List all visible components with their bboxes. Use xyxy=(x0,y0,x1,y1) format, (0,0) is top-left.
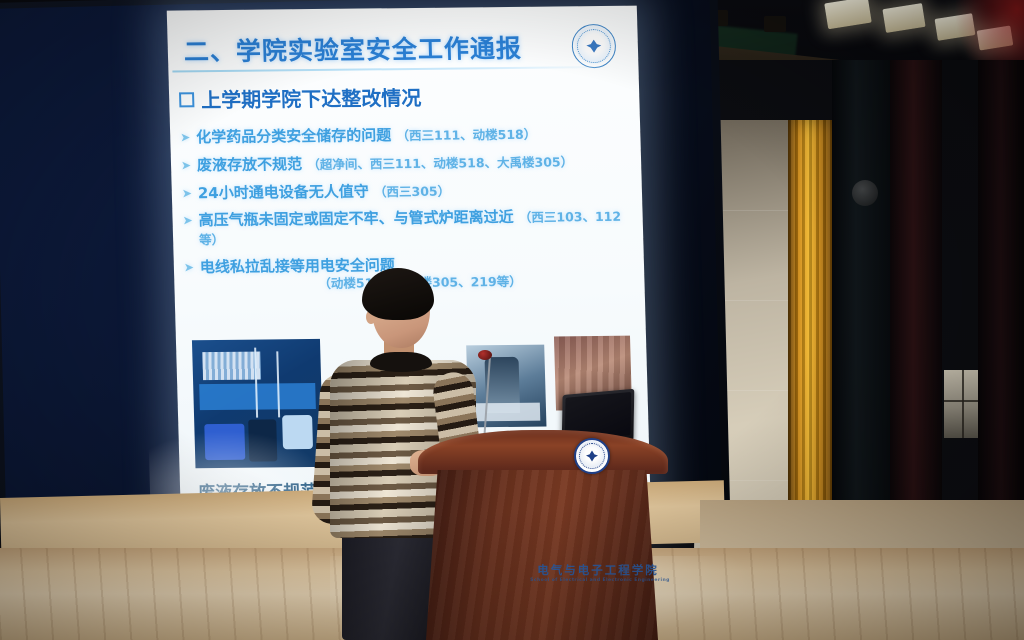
bullet-text: 24小时通电设备无人值守 xyxy=(198,182,369,202)
arrow-bullet-icon: ➤ xyxy=(184,260,194,275)
arrow-bullet-icon: ➤ xyxy=(182,214,192,229)
list-item: ➤ 废液存放不规范 （超净间、西三111、动楼518、大禹楼305） xyxy=(197,151,628,174)
bullet-note: （超净间、西三111、动楼518、大禹楼305） xyxy=(307,154,573,172)
slide-title: 二、学院实验室安全工作通报 xyxy=(183,28,614,68)
bullet-text: 废液存放不规范 xyxy=(197,155,303,174)
arrow-bullet-icon: ➤ xyxy=(180,130,190,145)
arrow-bullet-icon: ➤ xyxy=(182,186,192,201)
dark-curtain xyxy=(832,60,892,560)
auditorium-scene: 二、学院实验室安全工作通报 上学期学院下达整改情况 ➤ 化学药品分类安全储存的问… xyxy=(0,0,1024,640)
presenter-hair xyxy=(362,268,434,320)
ceiling-speaker xyxy=(852,180,878,206)
podium-org-name-cn: 电气与电子工程学院 xyxy=(528,562,668,578)
bullet-note: （西三111、动楼518） xyxy=(396,127,536,143)
square-bullet-icon xyxy=(179,92,194,107)
bullet-text: 高压气瓶未固定或固定不牢、与管式炉距离过近 xyxy=(198,208,514,229)
slide-subtitle-text: 上学期学院下达整改情况 xyxy=(201,86,422,112)
arrow-bullet-icon: ➤ xyxy=(181,158,191,173)
light-fixture xyxy=(764,16,786,32)
list-item: ➤ 24小时通电设备无人值守 （西三305） xyxy=(198,179,629,202)
university-emblem-icon xyxy=(574,438,610,474)
slide-subtitle: 上学期学院下达整改情况 xyxy=(179,80,620,114)
bullet-note: （西三305） xyxy=(374,183,451,199)
podium-top xyxy=(418,430,668,474)
podium-org-name-en: School of Electrical and Electronic Engi… xyxy=(526,578,674,583)
list-item: ➤ 化学药品分类安全储存的问题 （西三111、动楼518） xyxy=(196,124,627,147)
list-item: ➤ 高压气瓶未固定或固定不牢、与管式炉距离过近 （西三103、112等） xyxy=(198,207,629,249)
dark-curtain xyxy=(978,60,1024,560)
presenter-collar xyxy=(370,352,432,372)
dark-curtain xyxy=(890,60,942,560)
podium: 电气与电子工程学院 School of Electrical and Elect… xyxy=(414,430,672,640)
bullet-text: 化学药品分类安全储存的问题 xyxy=(196,126,392,146)
gold-curtain xyxy=(788,120,834,540)
podium-body xyxy=(426,470,658,640)
